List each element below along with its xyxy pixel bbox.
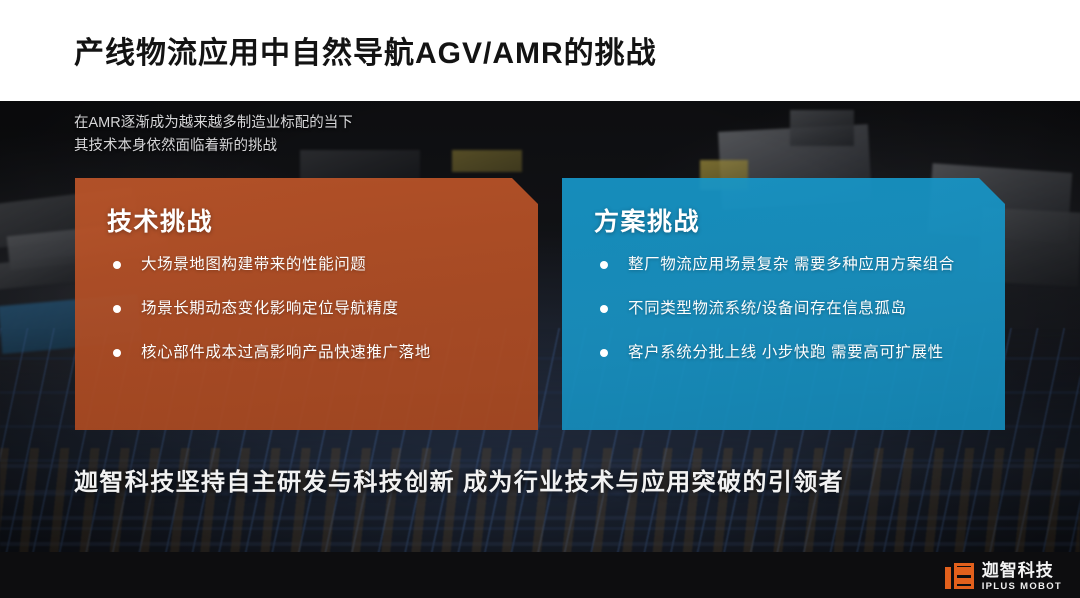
bullet-dot-icon — [113, 349, 121, 357]
page-title: 产线物流应用中自然导航AGV/AMR的挑战 — [74, 28, 657, 72]
bullet-dot-icon — [600, 305, 608, 313]
bullet-text: 客户系统分批上线 小步快跑 需要高可扩展性 — [628, 342, 944, 364]
slide: 产线物流应用中自然导航AGV/AMR的挑战 在AMR逐渐成为越来越多制造业标配的… — [0, 0, 1080, 598]
bullet-list-solution: 整厂物流应用场景复杂 需要多种应用方案组合 不同类型物流系统/设备间存在信息孤岛… — [592, 254, 979, 364]
title-band: 产线物流应用中自然导航AGV/AMR的挑战 — [0, 0, 1080, 101]
subtitle-line-2: 其技术本身依然面临着新的挑战 — [74, 135, 353, 158]
bullet-text: 整厂物流应用场景复杂 需要多种应用方案组合 — [628, 254, 955, 276]
list-item: 整厂物流应用场景复杂 需要多种应用方案组合 — [592, 254, 979, 276]
list-item: 不同类型物流系统/设备间存在信息孤岛 — [592, 298, 979, 320]
list-item: 场景长期动态变化影响定位导航精度 — [105, 298, 512, 320]
subtitle-line-1: 在AMR逐渐成为越来越多制造业标配的当下 — [74, 112, 353, 135]
logo-mark-icon — [945, 563, 974, 589]
logo-name-cn: 迦智科技 — [982, 562, 1062, 579]
bullet-text: 大场景地图构建带来的性能问题 — [141, 254, 366, 276]
list-item: 大场景地图构建带来的性能问题 — [105, 254, 512, 276]
logo-name-en: IPLUS MOBOT — [982, 582, 1062, 592]
panel-technical-challenges: 技术挑战 大场景地图构建带来的性能问题 场景长期动态变化影响定位导航精度 核心部… — [75, 178, 538, 430]
bullet-dot-icon — [600, 349, 608, 357]
panel-heading-solution: 方案挑战 — [594, 202, 979, 238]
bullet-list-technical: 大场景地图构建带来的性能问题 场景长期动态变化影响定位导航精度 核心部件成本过高… — [105, 254, 512, 364]
panel-solution-challenges: 方案挑战 整厂物流应用场景复杂 需要多种应用方案组合 不同类型物流系统/设备间存… — [562, 178, 1005, 430]
bullet-dot-icon — [113, 305, 121, 313]
bullet-text: 核心部件成本过高影响产品快速推广落地 — [141, 342, 431, 364]
bullet-dot-icon — [113, 261, 121, 269]
brand-logo: 迦智科技 IPLUS MOBOT — [945, 562, 1062, 592]
logo-wordmark: 迦智科技 IPLUS MOBOT — [982, 562, 1062, 592]
bullet-text: 场景长期动态变化影响定位导航精度 — [141, 298, 399, 320]
list-item: 核心部件成本过高影响产品快速推广落地 — [105, 342, 512, 364]
footer-bar — [0, 552, 1080, 598]
tagline: 迦智科技坚持自主研发与科技创新 成为行业技术与应用突破的引领者 — [74, 462, 844, 497]
bullet-dot-icon — [600, 261, 608, 269]
panel-heading-technical: 技术挑战 — [107, 202, 512, 238]
list-item: 客户系统分批上线 小步快跑 需要高可扩展性 — [592, 342, 979, 364]
bullet-text: 不同类型物流系统/设备间存在信息孤岛 — [628, 298, 907, 320]
subtitle: 在AMR逐渐成为越来越多制造业标配的当下 其技术本身依然面临着新的挑战 — [74, 112, 353, 158]
